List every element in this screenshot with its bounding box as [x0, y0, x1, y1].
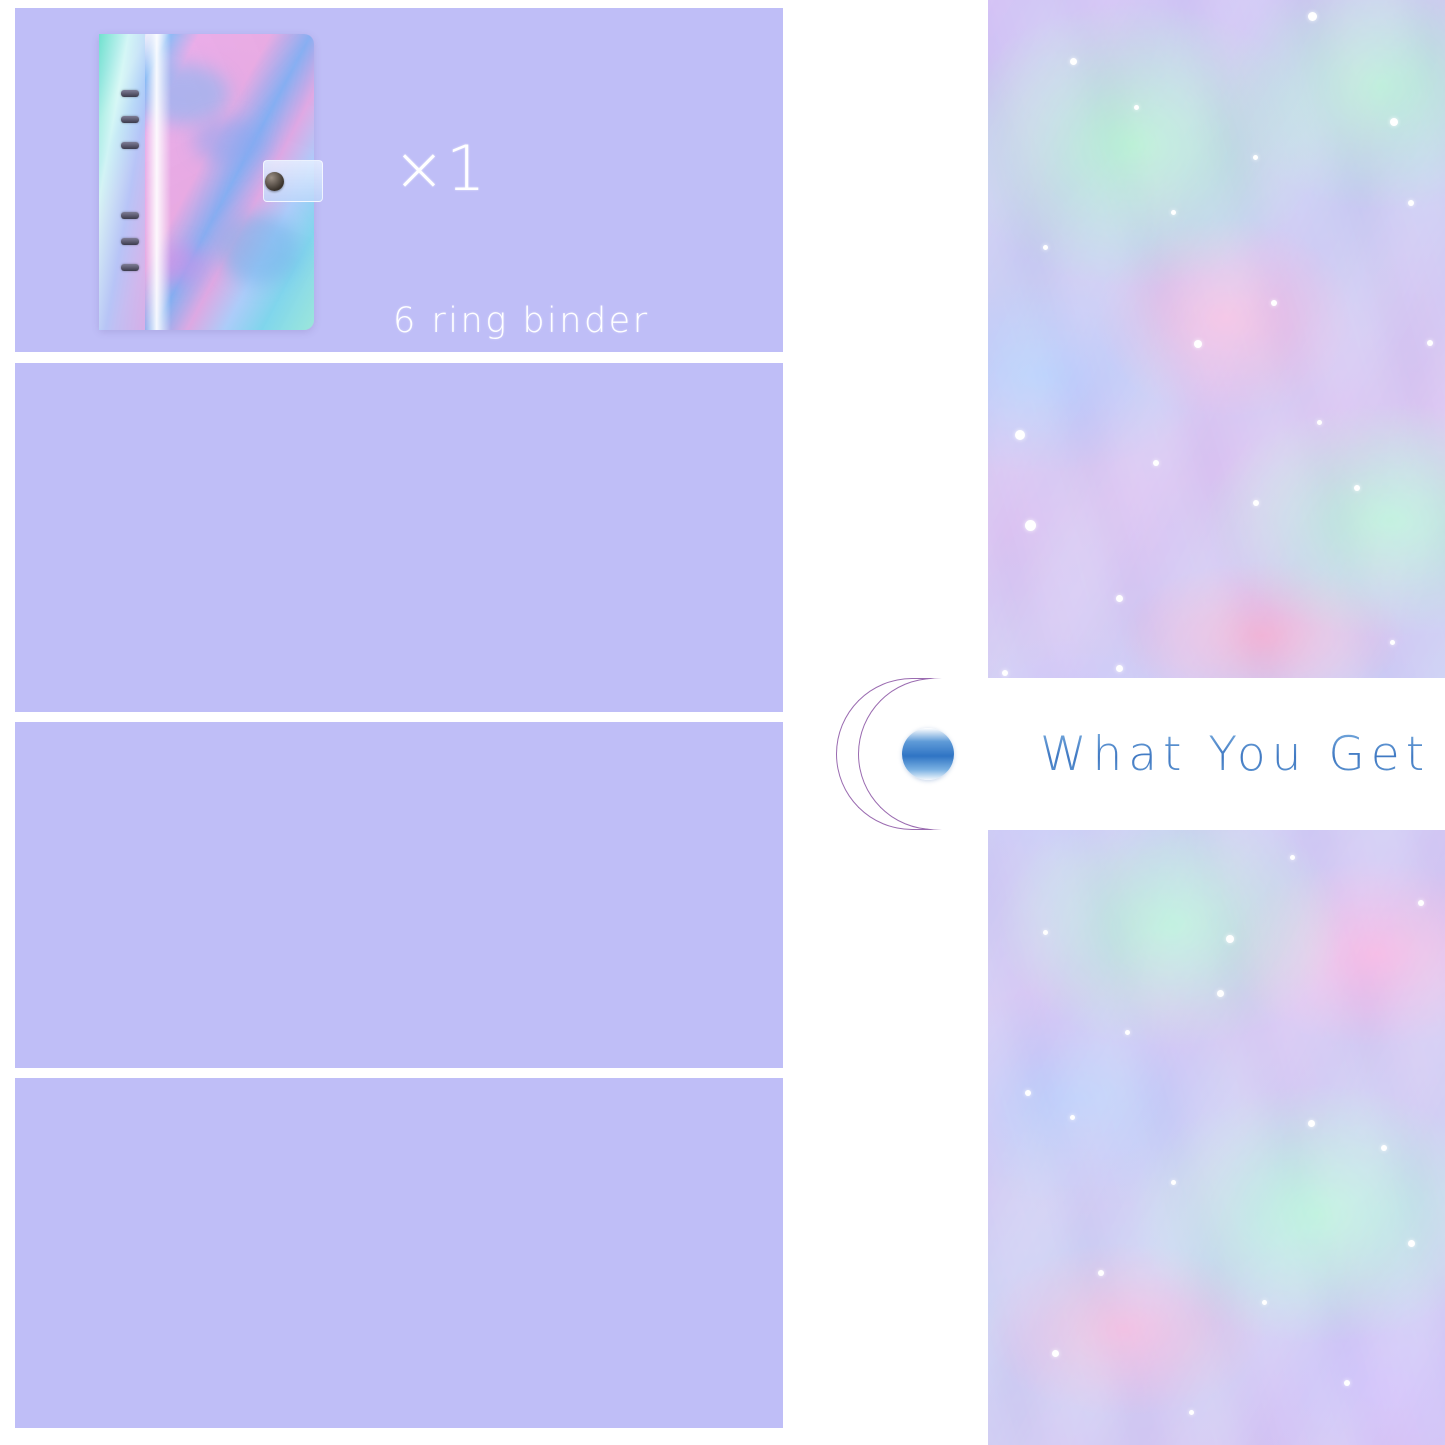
- holo-dot: [1116, 665, 1123, 672]
- holo-dot: [1043, 930, 1048, 935]
- binder-image: [87, 16, 327, 346]
- what-you-get-banner: What You Get: [836, 678, 1445, 830]
- holo-dot: [1381, 1145, 1387, 1151]
- item-card-binder: ×1 6 ring binder: [15, 8, 783, 352]
- item-card-labels: ×21 Self adhesive label note paper: [15, 1078, 783, 1428]
- banner-pill: What You Get: [866, 678, 1445, 830]
- holo-dot: [1354, 485, 1360, 491]
- holo-dot: [1317, 420, 1322, 425]
- banner-dot-icon: [902, 728, 954, 780]
- holo-dot: [1194, 340, 1202, 348]
- binder-snap-button: [265, 172, 284, 191]
- holo-dot: [1002, 670, 1008, 676]
- binder-sheen-3: [219, 214, 299, 284]
- item-description: 6 ring binder: [393, 293, 650, 351]
- holo-dot: [1098, 1270, 1104, 1276]
- holo-dot: [1418, 900, 1424, 906]
- holo-dot: [1153, 460, 1159, 466]
- item-quantity: ×1: [393, 138, 486, 200]
- binder-ring: [121, 238, 139, 245]
- binder-ring: [121, 142, 139, 149]
- holo-dot: [1427, 340, 1433, 346]
- holo-dot: [1025, 520, 1036, 531]
- binder-sheen-2: [194, 119, 264, 164]
- binder-ring: [121, 116, 139, 123]
- item-card-card-holder: ×2 Two cards transparent belt: [15, 722, 783, 1068]
- holo-dot: [1171, 1180, 1176, 1185]
- binder-cover: [99, 34, 314, 330]
- item-card-protective-film: ×8 A6 size transparent protective film: [15, 363, 783, 712]
- holo-dot: [1116, 595, 1123, 602]
- holo-dot: [1226, 935, 1234, 943]
- binder-spine: [99, 34, 145, 330]
- items-column: ×1 6 ring binder: [15, 0, 783, 1445]
- holo-dot: [1052, 1350, 1059, 1357]
- holo-dot: [1217, 990, 1224, 997]
- product-infographic: ×1 6 ring binder: [0, 0, 1445, 1445]
- holo-dot: [1171, 210, 1176, 215]
- holo-dot: [1290, 855, 1295, 860]
- holo-dot: [1025, 1090, 1031, 1096]
- holo-dot: [1308, 1120, 1315, 1127]
- holo-dot: [1043, 245, 1048, 250]
- holo-dot: [1308, 12, 1317, 21]
- binder-ring: [121, 212, 139, 219]
- binder-ring: [121, 90, 139, 97]
- holo-dot: [1253, 500, 1259, 506]
- binder-ring: [121, 264, 139, 271]
- binder-gloss: [145, 34, 171, 330]
- banner-title: What You Get: [1040, 727, 1430, 782]
